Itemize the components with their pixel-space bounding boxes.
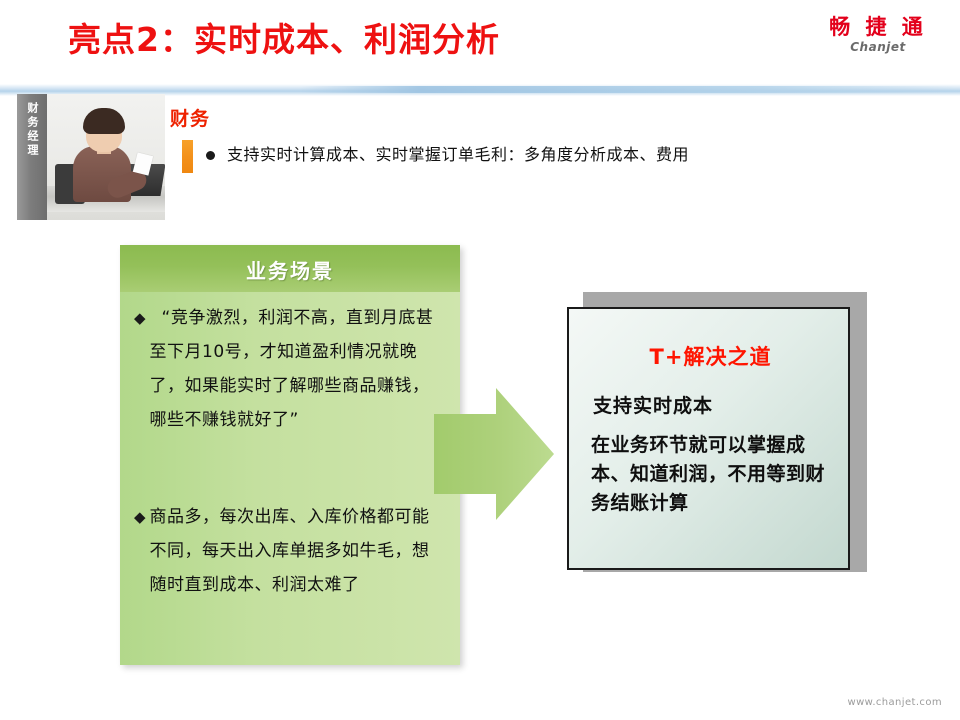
right-arrow-icon xyxy=(434,388,554,520)
list-item: ◆ 商品多，每次出库、入库价格都可能不同，每天出入库单据多如牛毛，想随时直到成本… xyxy=(134,500,446,602)
business-scenario-header: 业务场景 xyxy=(120,245,460,292)
solution-title: T+解决之道 xyxy=(569,341,852,371)
business-scenario-box: 业务场景 ◆ “竞争激烈，利润不高，直到月底甚至下月10号，才知道盈利情况就晚了… xyxy=(120,245,460,665)
solution-box: T+解决之道 支持实时成本 在业务环节就可以掌握成本、知道利润，不用等到财务结账… xyxy=(567,307,850,570)
diamond-bullet-icon: ◆ xyxy=(134,301,146,335)
finance-bullet-row: 支持实时计算成本、实时掌握订单毛利：多角度分析成本、费用 xyxy=(206,143,926,167)
accent-bar xyxy=(182,140,193,173)
title-bar: 亮点2：实时成本、利润分析 畅 捷 通 Chanjet xyxy=(0,0,960,80)
list-item-text: “竞争激烈，利润不高，直到月底甚至下月10号，才知道盈利情况就晚了，如果能实时了… xyxy=(150,301,446,437)
brand-logo: 畅 捷 通 Chanjet xyxy=(818,16,938,54)
diamond-bullet-icon: ◆ xyxy=(134,500,146,534)
logo-chinese-text: 畅 捷 通 xyxy=(818,16,938,39)
header-divider-highlight xyxy=(300,86,960,93)
persona-role-tab: 财务经理 xyxy=(17,94,47,220)
slide-canvas: 亮点2：实时成本、利润分析 畅 捷 通 Chanjet 财务经理 财务 支持实时… xyxy=(0,0,960,720)
list-item: ◆ “竞争激烈，利润不高，直到月底甚至下月10号，才知道盈利情况就晚了，如果能实… xyxy=(134,301,446,437)
persona-role-label: 财务经理 xyxy=(17,102,47,212)
bullet-dot-icon xyxy=(206,151,215,160)
solution-line-2: 在业务环节就可以掌握成本、知道利润，不用等到财务结账计算 xyxy=(591,431,843,518)
business-scenario-title: 业务场景 xyxy=(120,255,460,284)
finance-section-heading: 财务 xyxy=(170,104,210,131)
list-item-text: 商品多，每次出库、入库价格都可能不同，每天出入库单据多如牛毛，想随时直到成本、利… xyxy=(150,500,446,602)
footer-website-url: www.chanjet.com xyxy=(848,697,943,708)
solution-line-1: 支持实时成本 xyxy=(593,391,713,418)
persona-photo xyxy=(47,94,165,220)
page-title: 亮点2：实时成本、利润分析 xyxy=(68,13,500,61)
finance-bullet-text: 支持实时计算成本、实时掌握订单毛利：多角度分析成本、费用 xyxy=(227,143,689,167)
persona-card: 财务经理 xyxy=(17,94,165,220)
logo-latin-text: Chanjet xyxy=(818,40,938,54)
photo-person-hair-shape xyxy=(83,108,125,134)
